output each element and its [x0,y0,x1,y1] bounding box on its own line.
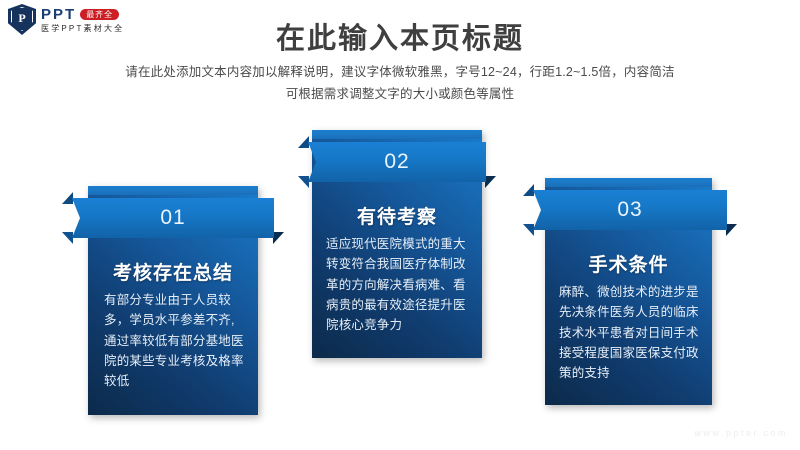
slide-canvas: P PPT 最齐全 医学PPT素材大全 在此输入本页标题 请在此处添加文本内容加… [0,0,800,450]
ribbon-fold-left-bottom-icon [523,224,534,236]
page-subtitle: 请在此处添加文本内容加以解释说明，建议字体微软雅黑，字号12~24，行距1.2~… [90,62,710,106]
card-ribbon: 01 [62,192,284,244]
ribbon-fold-left-icon [62,192,73,204]
card-body-text: 有部分专业由于人员较多，学员水平参差不齐,通过率较低有部分基地医院的某些专业考核… [104,290,246,391]
ribbon-fold-right-icon [726,224,737,236]
ribbon-body: 03 [533,190,727,230]
subtitle-line-1: 请在此处添加文本内容加以解释说明，建议字体微软雅黑，字号12~24，行距1.2~… [90,62,710,84]
info-card-03[interactable]: 03 手术条件 麻醉、微创技术的进步是先决条件医务人员的临床技术水平患者对日间手… [545,178,712,405]
card-number: 01 [160,206,185,230]
ribbon-fold-right-icon [485,176,496,188]
card-body-text: 适应现代医院模式的重大转变符合我国医疗体制改革的方向解决看病难、看病贵的最有效途… [326,234,472,335]
ribbon-fold-left-icon [523,184,534,196]
info-card-01[interactable]: 01 考核存在总结 有部分专业由于人员较多，学员水平参差不齐,通过率较低有部分基… [88,186,258,415]
ribbon-fold-right-icon [273,232,284,244]
card-body-text: 麻醉、微创技术的进步是先决条件医务人员的临床技术水平患者对日间手术接受程度国家医… [559,282,702,383]
page-title: 在此输入本页标题 [0,15,800,57]
card-ribbon: 03 [523,184,737,236]
card-number: 03 [617,198,642,222]
card-heading: 考核存在总结 [88,258,258,285]
card-heading: 有待考察 [312,202,482,229]
ribbon-fold-left-icon [298,136,309,148]
card-number: 02 [384,150,409,174]
card-heading: 手术条件 [545,250,712,277]
ribbon-fold-left-bottom-icon [62,232,73,244]
ribbon-body: 01 [72,198,274,238]
subtitle-line-2: 可根据需求调整文字的大小或颜色等属性 [90,84,710,106]
ribbon-fold-left-bottom-icon [298,176,309,188]
ribbon-body: 02 [308,142,486,182]
card-ribbon: 02 [298,136,496,188]
info-card-02[interactable]: 02 有待考察 适应现代医院模式的重大转变符合我国医疗体制改革的方向解决看病难、… [312,130,482,358]
footer-watermark: www.ppter.com [694,428,788,438]
